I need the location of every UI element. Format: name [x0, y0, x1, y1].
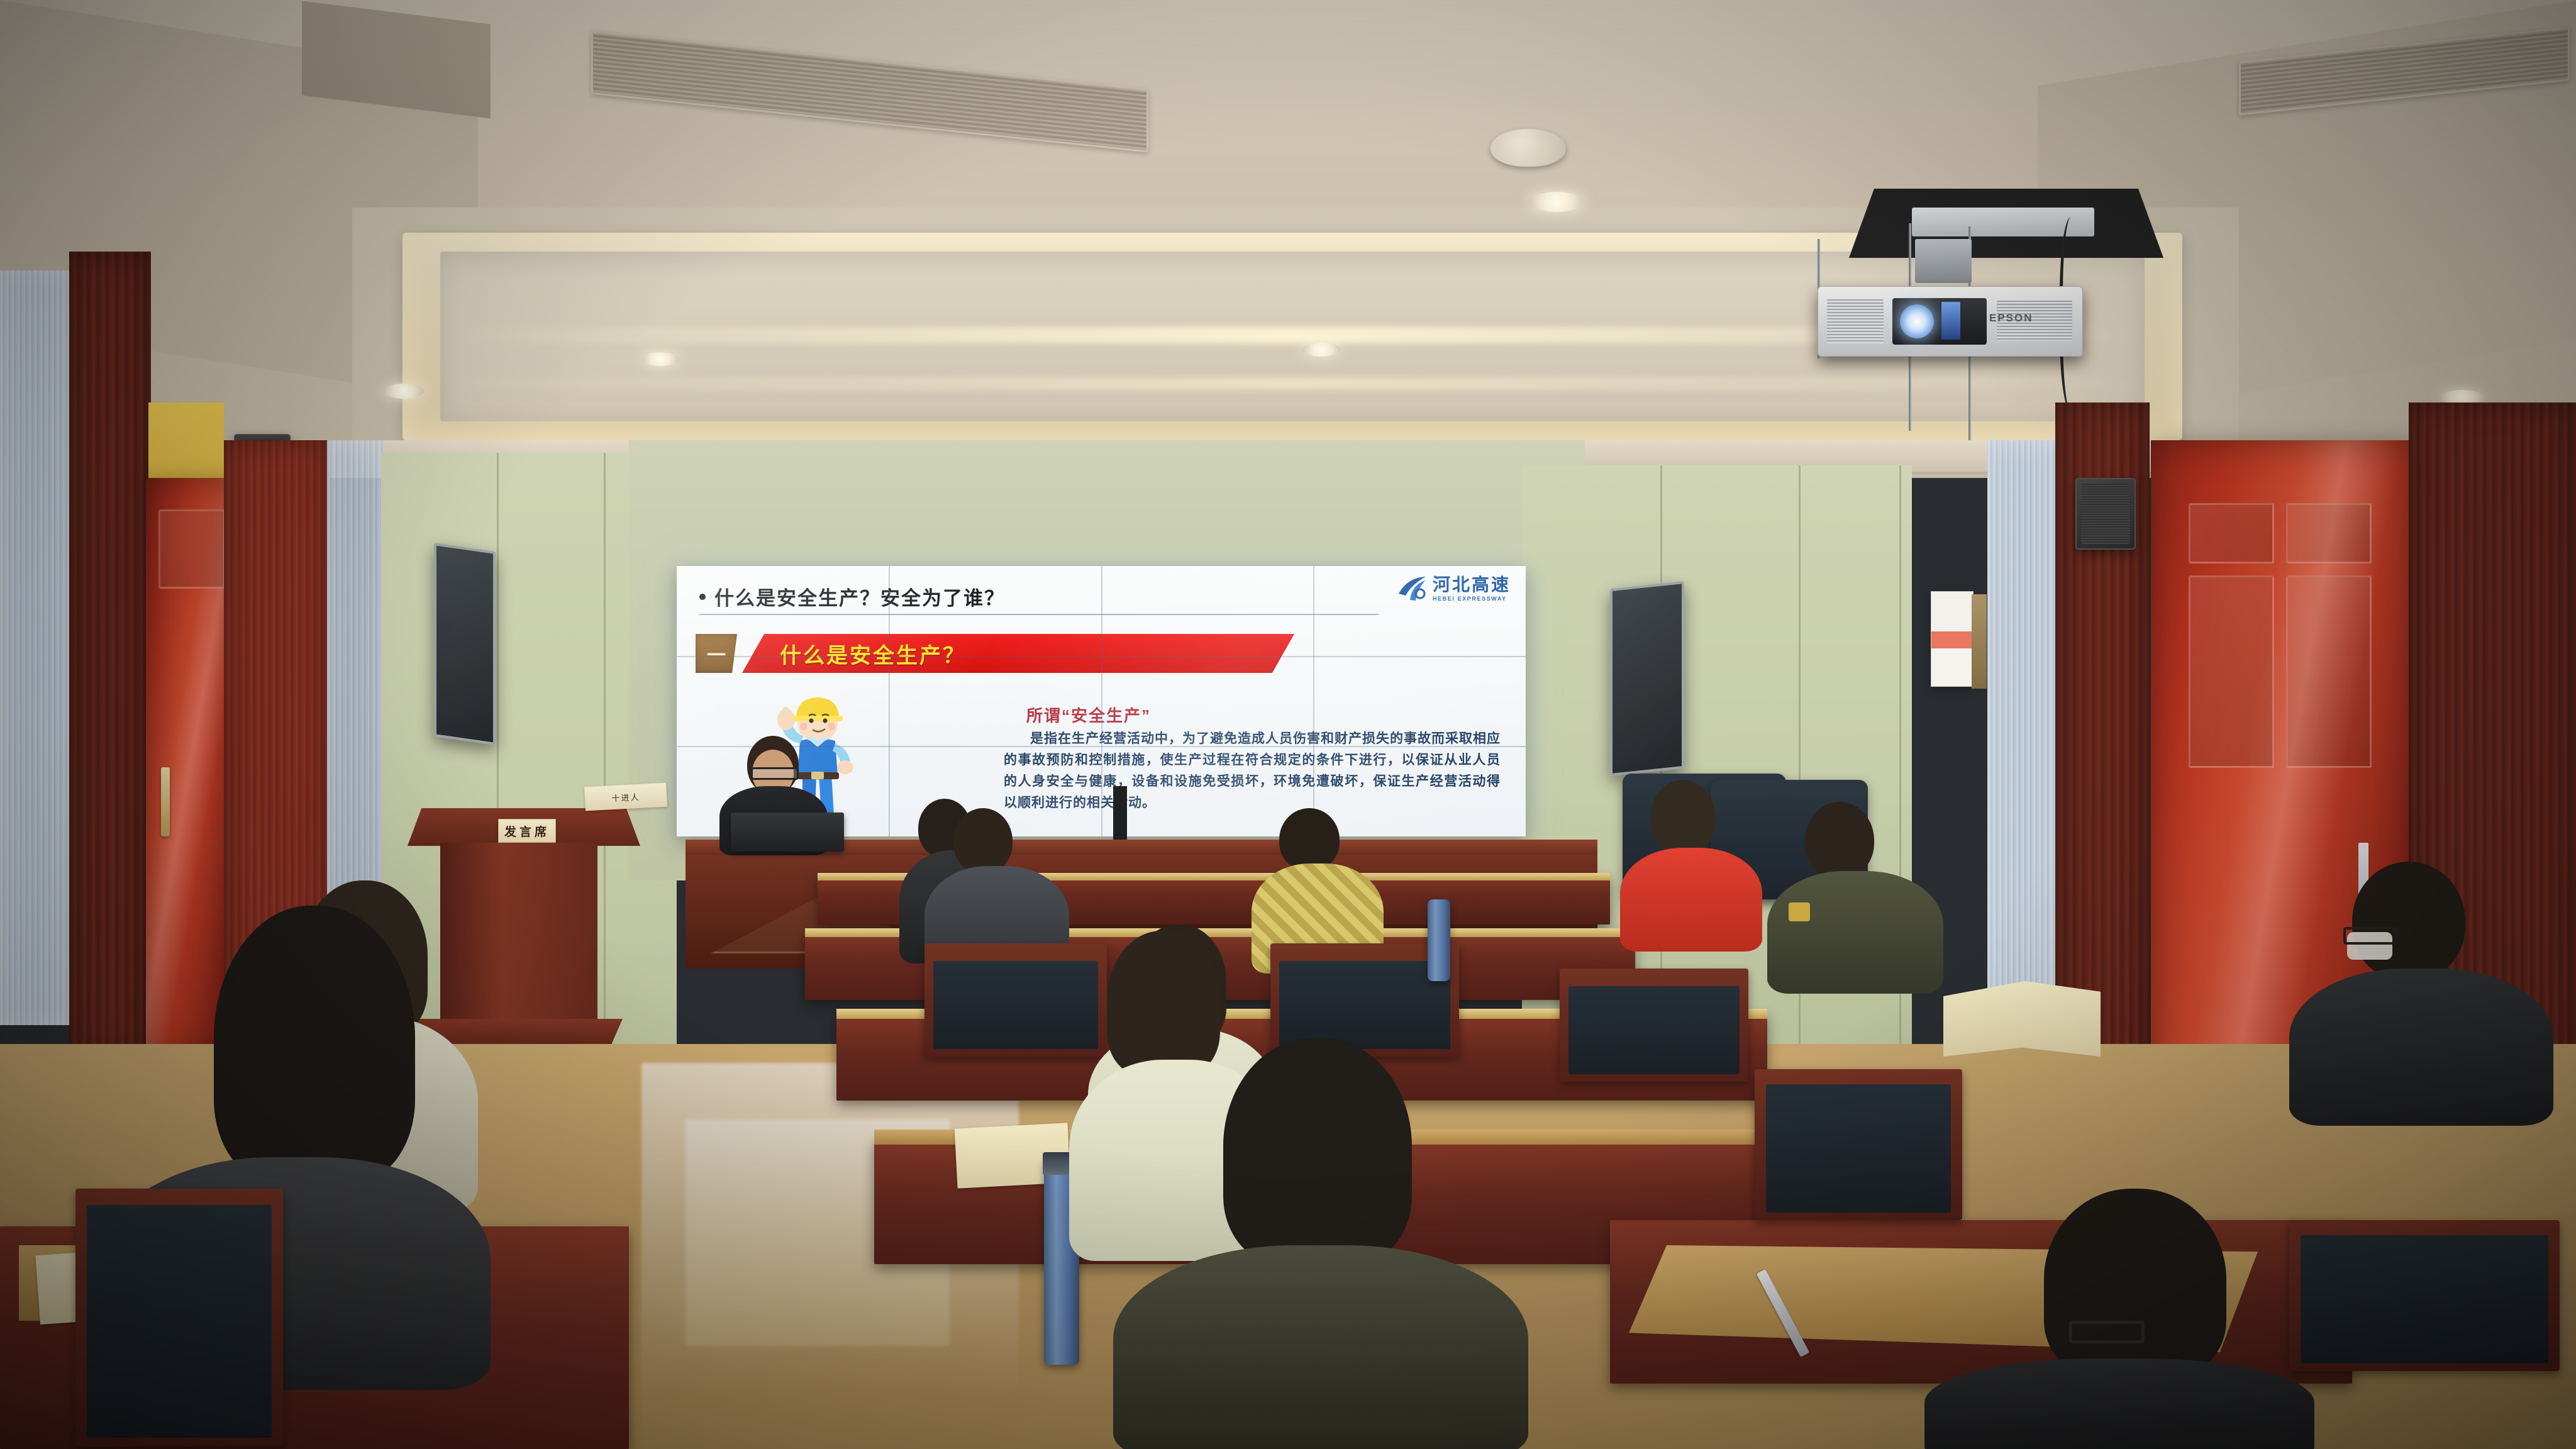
downlight-2 [641, 352, 679, 366]
attendee-r3-head [2352, 862, 2465, 981]
bullet-dot-icon [699, 594, 706, 600]
projector-lens [1900, 304, 1934, 338]
logo-swoosh-icon [1397, 575, 1428, 602]
slide-section-band: 一 什么是安全生产？ [696, 634, 1294, 673]
chair-far-right [2289, 1220, 2560, 1371]
slide-divider-rule [699, 614, 1379, 615]
chair-left-fg-cushion [87, 1205, 272, 1438]
attendee-c5 [1113, 1038, 1528, 1449]
attendee-r1-torso [1620, 848, 1762, 952]
panel-seam-v2 [1101, 566, 1102, 836]
section-number-badge: 一 [696, 634, 737, 673]
door-right-inset-2 [2286, 503, 2372, 563]
attendee-r2-head [1805, 802, 1874, 879]
attendee-r2-shoulder-patch [1789, 902, 1810, 921]
downlight-1 [384, 384, 424, 399]
presenter [717, 736, 830, 855]
attendee-r2 [1767, 802, 1943, 991]
attendee-fg-torso [1924, 1358, 2314, 1449]
attendee-c5-torso [1113, 1245, 1528, 1449]
attendee-left-2-hair [214, 906, 415, 1182]
definition-heading: 所谓“安全生产” [1026, 703, 1151, 726]
mic-stand-silhouette [1113, 786, 1127, 843]
chair-row3-3 [1560, 969, 1748, 1082]
attendee-c1-head [953, 808, 1013, 874]
door-left-inset-1 [158, 509, 225, 589]
attendee-fg-glasses [2069, 1321, 2145, 1343]
thermos-bottle-2 [1428, 899, 1450, 981]
attendee-c5-hair [1223, 1038, 1412, 1264]
attendee-r1-head [1650, 780, 1716, 855]
chair-far-right-cushion [2301, 1235, 2548, 1363]
door-right-inset-3 [2189, 575, 2274, 768]
section-band-red: 什么是安全生产？ [742, 634, 1294, 673]
decorative-art-panel [1931, 591, 1974, 687]
wall-notice-sign: 十进人 [584, 783, 667, 811]
ceiling-projector: EPSON [1818, 286, 2083, 357]
door-left-handle [161, 767, 170, 836]
open-notebook [1943, 981, 2101, 1057]
door-right-inset-1 [2189, 503, 2274, 563]
art-panel-edge [1972, 594, 1987, 689]
chair-row3-3-cushion [1568, 986, 1740, 1074]
section-title-text: 什么是安全生产？ [780, 638, 966, 669]
attendee-fg [1924, 1189, 2314, 1449]
panel-seam-v3 [1313, 566, 1314, 836]
attendee-r3-glasses [2343, 927, 2397, 945]
chair-left-foreground [75, 1189, 283, 1446]
attendee-r3 [2289, 862, 2553, 1126]
presenter-laptop [731, 813, 844, 852]
definition-body: 是指在生产经营活动中，为了避免造成人员伤害和财产损失的事故而采取相应的事故预防和… [1004, 728, 1501, 814]
cove-glow-strip-2 [428, 377, 2151, 390]
attendee-r1 [1616, 780, 1767, 943]
logo-chinese-text: 河北高速 [1433, 576, 1511, 594]
wall-tv-left [434, 543, 496, 745]
attendee-r2-torso [1767, 871, 1943, 994]
conference-room-photo: EPSON 什么是安全生产？安 [0, 0, 2576, 1449]
projector-brand-label: EPSON [1989, 312, 2033, 325]
downlight-6 [1528, 192, 1585, 212]
projector-bracket [1915, 239, 1972, 283]
wall-seam-l2 [604, 453, 606, 1082]
smoke-detector [1491, 129, 1566, 167]
slide-question-text: 什么是安全生产？安全为了谁？ [714, 582, 1005, 611]
attendee-fg-hair [2044, 1189, 2226, 1377]
logo-english-text: HEBEI EXPRESSWAY [1433, 596, 1511, 602]
downlight-3 [1302, 343, 1341, 357]
panel-seam-h1 [677, 656, 1526, 657]
projector-indicator [1941, 302, 1960, 340]
panel-seam-v1 [889, 566, 890, 836]
wall-tv-right [1610, 581, 1684, 776]
chair-row3-2-cushion [1279, 961, 1450, 1049]
podium-sign: 发言席 [498, 819, 556, 843]
chair-right-mid-cushion [1766, 1084, 1951, 1213]
hebei-expressway-logo: 河北高速 HEBEI EXPRESSWAY [1397, 575, 1511, 602]
attendee-r3-torso [2289, 969, 2553, 1126]
projector-vent-left [1827, 299, 1884, 343]
chair-right-mid [1755, 1069, 1962, 1220]
slide-bullet-question: 什么是安全生产？安全为了谁？ [699, 582, 1005, 611]
presenter-glasses [751, 767, 799, 780]
left-glass-partition [0, 270, 75, 1025]
wall-speaker-right [2075, 478, 2136, 550]
attendee-c3-head [1279, 808, 1340, 871]
door-right-inset-4 [2286, 575, 2372, 768]
